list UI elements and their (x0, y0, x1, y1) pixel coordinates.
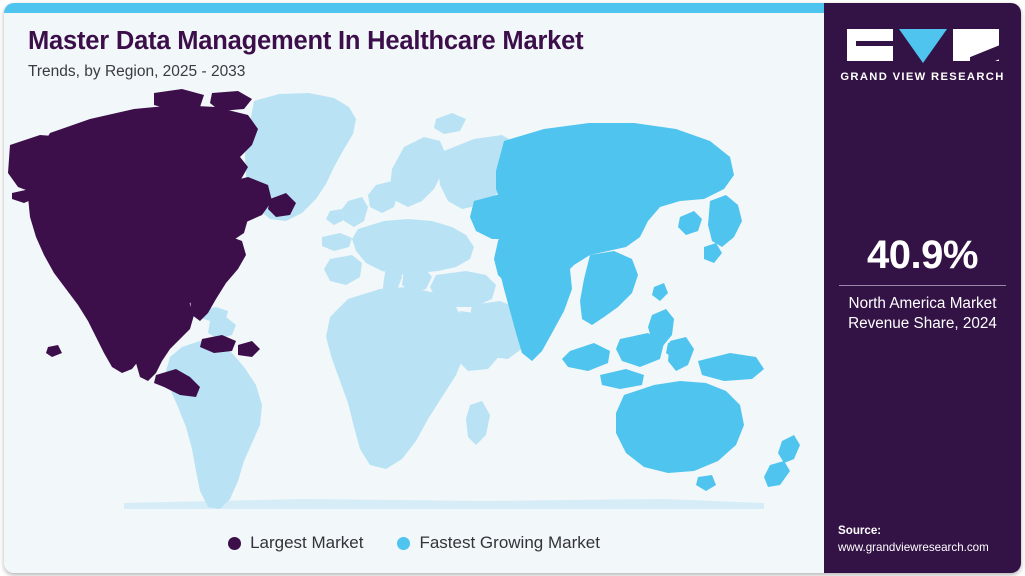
source-label: Source: (838, 523, 1021, 540)
top-accent-bar (4, 3, 824, 13)
legend: Largest Market Fastest Growing Market (4, 533, 824, 553)
world-map-svg (4, 89, 824, 509)
world-map (4, 89, 824, 509)
stat-divider (839, 285, 1006, 286)
brand-logo: GRAND VIEW RESEARCH (824, 29, 1021, 83)
map-panel: Master Data Management In Healthcare Mar… (4, 3, 824, 573)
legend-item-largest-market: Largest Market (228, 533, 363, 553)
logo-mark-group (847, 29, 999, 63)
logo-g-icon (847, 29, 893, 61)
stat-caption-line-2: Revenue Share, 2024 (834, 314, 1011, 334)
legend-item-fastest-growing-market: Fastest Growing Market (397, 533, 599, 553)
logo-v-icon (899, 29, 947, 63)
title-block: Master Data Management In Healthcare Mar… (28, 27, 808, 82)
source-url[interactable]: www.grandviewresearch.com (838, 540, 1021, 557)
stat-value: 40.9% (834, 234, 1011, 276)
page-title: Master Data Management In Healthcare Mar… (28, 27, 808, 56)
logo-r-icon (953, 29, 999, 61)
legend-dot-icon (397, 537, 410, 550)
stat-block: 40.9% North America Market Revenue Share… (834, 234, 1011, 334)
legend-item-label: Fastest Growing Market (419, 533, 599, 553)
logo-wordmark: GRAND VIEW RESEARCH (840, 71, 1004, 83)
page-subtitle: Trends, by Region, 2025 - 2033 (28, 63, 808, 82)
infographic-card: Master Data Management In Healthcare Mar… (4, 3, 1021, 573)
legend-item-label: Largest Market (250, 533, 363, 553)
sidebar-panel: GRAND VIEW RESEARCH 40.9% North America … (824, 3, 1021, 573)
source-block: Source: www.grandviewresearch.com (838, 523, 1021, 557)
legend-dot-icon (228, 537, 241, 550)
stat-caption-line-1: North America Market (834, 294, 1011, 314)
